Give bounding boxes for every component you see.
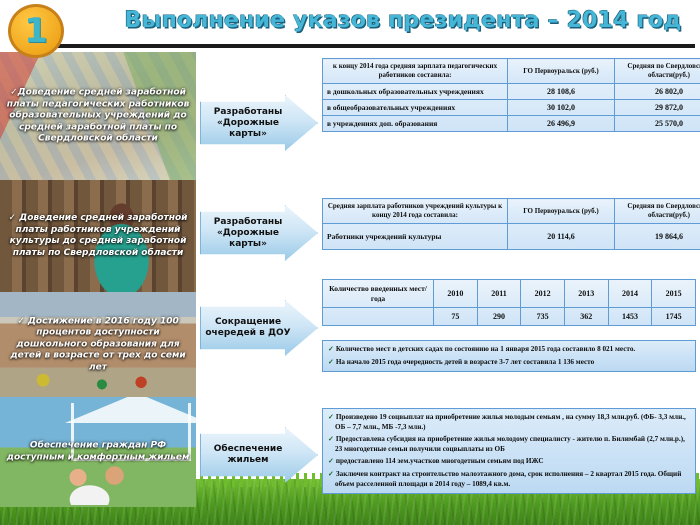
check-icon: ✓ xyxy=(328,435,334,443)
housing-note-0-text: Произведено 19 соцвыплат на приобретение… xyxy=(335,413,686,431)
arrow-queue-reduction-line2: очередей в ДОУ xyxy=(205,328,290,338)
places-lead-label: Количество введенных мест/года xyxy=(323,280,434,308)
culture-row0-city: 20 114,6 xyxy=(508,224,615,250)
arrow-roadmaps-culture-line1: Разработаны xyxy=(214,217,283,227)
education-header-region: Средняя по Свердловской области(руб.) xyxy=(615,59,700,84)
table-row: в учреждениях доп. образования 26 496,9 … xyxy=(323,116,700,132)
check-icon: ✓ xyxy=(328,413,334,421)
housing-note-1-text: Предоставлена субсидия на приобретение ж… xyxy=(335,435,685,453)
title-divider xyxy=(45,44,695,48)
places-year-2015: 2015 xyxy=(652,280,696,308)
culture-row0-label: Работники учреждений культуры xyxy=(323,224,508,250)
culture-header-city: ГО Первоуральск (руб.) xyxy=(508,199,615,224)
culture-salary-table: Средняя зарплата работников учреждений к… xyxy=(322,198,700,250)
table-header-row: Количество введенных мест/года 2010 2011… xyxy=(323,280,696,308)
education-row0-city: 28 108,6 xyxy=(508,84,615,100)
places-value-2011: 290 xyxy=(477,308,521,326)
family-shape xyxy=(55,459,151,505)
teachers-salary-photo: ✓Доведение средней заработной платы педа… xyxy=(0,52,196,180)
arrow-roadmaps-culture: Разработаны «Дорожные карты» xyxy=(200,205,318,261)
arrow-housing-provision-line1: Обеспечение xyxy=(214,444,283,454)
arrow-housing-provision-line2: жильем xyxy=(227,455,268,465)
education-row1-region: 29 872,0 xyxy=(615,100,700,116)
education-row0-region: 26 802,0 xyxy=(615,84,700,100)
preschool-note-0: ✓ Количество мест в детских садах по сос… xyxy=(328,345,690,355)
photo-column: ✓Доведение средней заработной платы педа… xyxy=(0,52,196,507)
table-row: 75 290 735 362 1453 1745 xyxy=(323,308,696,326)
education-row2-city: 26 496,9 xyxy=(508,116,615,132)
arrow-queue-reduction: Сокращение очередей в ДОУ xyxy=(200,300,318,356)
culture-row0-region: 19 864,6 xyxy=(615,224,700,250)
arrow-queue-reduction-line1: Сокращение xyxy=(215,317,281,327)
housing-caption: Обеспечение граждан РФ доступным и комфо… xyxy=(0,441,196,464)
education-row1-label: в общеобразовательных учреждениях xyxy=(323,100,508,116)
check-icon: ✓ xyxy=(328,358,334,366)
preschool-note-1: ✓ На начало 2015 года очередность детей … xyxy=(328,358,690,368)
places-value-2010: 75 xyxy=(434,308,478,326)
education-salary-panel: к концу 2014 года средняя зарплата педаг… xyxy=(322,58,700,132)
education-header-city: ГО Первоуральск (руб.) xyxy=(508,59,615,84)
housing-notes-box: ✓ Произведено 19 соцвыплат на приобретен… xyxy=(322,408,696,494)
page-title: Выполнение указов президента – 2014 год xyxy=(118,8,688,42)
housing-photo: Обеспечение граждан РФ доступным и комфо… xyxy=(0,397,196,507)
places-value-blank xyxy=(323,308,434,326)
places-year-2013: 2013 xyxy=(564,280,608,308)
places-per-year-table: Количество введенных мест/года 2010 2011… xyxy=(322,279,696,326)
places-year-2011: 2011 xyxy=(477,280,521,308)
places-value-2013: 362 xyxy=(564,308,608,326)
preschool-notes-box: ✓ Количество мест в детских садах по сос… xyxy=(322,340,696,372)
arrow-roadmaps-education-line1: Разработаны xyxy=(214,107,283,117)
housing-note-3: ✓ Заключен контракт на строительство мал… xyxy=(328,470,690,489)
check-icon: ✓ xyxy=(328,470,334,478)
table-row: Работники учреждений культуры 20 114,6 1… xyxy=(323,224,700,250)
places-year-2010: 2010 xyxy=(434,280,478,308)
slide-number-value: 1 xyxy=(24,14,48,48)
teachers-salary-caption: ✓Доведение средней заработной платы педа… xyxy=(0,87,196,145)
culture-salary-panel: Средняя зарплата работников учреждений к… xyxy=(322,198,700,250)
education-row2-label: в учреждениях доп. образования xyxy=(323,116,508,132)
places-year-2012: 2012 xyxy=(521,280,565,308)
education-row2-region: 25 570,0 xyxy=(615,116,700,132)
preschool-note-0-text: Количество мест в детских садах по состо… xyxy=(336,345,635,353)
preschool-note-1-text: На начало 2015 года очередность детей в … xyxy=(336,358,594,366)
slide: 1 Выполнение указов президента – 2014 го… xyxy=(0,0,700,525)
check-icon: ✓ xyxy=(328,345,334,353)
arrow-roadmaps-education: Разработаны «Дорожные карты» xyxy=(200,95,318,151)
culture-salary-photo: ✓ Доведение средней заработной платы раб… xyxy=(0,180,196,292)
housing-note-1: ✓ Предоставлена субсидия на приобретение… xyxy=(328,435,690,454)
places-value-2015: 1745 xyxy=(652,308,696,326)
arrow-roadmaps-culture-line2: «Дорожные карты» xyxy=(217,228,279,249)
education-salary-table: к концу 2014 года средняя зарплата педаг… xyxy=(322,58,700,132)
education-row1-city: 30 102,0 xyxy=(508,100,615,116)
housing-note-3-text: Заключен контракт на строительство малоэ… xyxy=(335,470,681,488)
slide-number-badge: 1 xyxy=(8,4,64,58)
housing-note-2-text: предоставлено 114 зем.участков многодетн… xyxy=(336,457,544,465)
check-icon: ✓ xyxy=(328,457,334,465)
housing-note-2: ✓ предоставлено 114 зем.участков многоде… xyxy=(328,457,690,467)
places-value-2014: 1453 xyxy=(608,308,652,326)
places-value-2012: 735 xyxy=(521,308,565,326)
preschool-access-photo: ✓ Достижение в 2016 году 100 процентов д… xyxy=(0,292,196,397)
places-per-year-panel: Количество введенных мест/года 2010 2011… xyxy=(322,279,696,326)
housing-note-0: ✓ Произведено 19 соцвыплат на приобретен… xyxy=(328,413,690,432)
culture-salary-caption: ✓ Доведение средней заработной платы раб… xyxy=(0,213,196,259)
education-header-lead: к концу 2014 года средняя зарплата педаг… xyxy=(323,59,508,84)
places-year-2014: 2014 xyxy=(608,280,652,308)
table-row: в общеобразовательных учреждениях 30 102… xyxy=(323,100,700,116)
table-header-row: к концу 2014 года средняя зарплата педаг… xyxy=(323,59,700,84)
culture-header-region: Средняя по Свердловской области(руб.) xyxy=(615,199,700,224)
arrow-roadmaps-education-line2: «Дорожные карты» xyxy=(217,118,279,139)
preschool-access-caption: ✓ Достижение в 2016 году 100 процентов д… xyxy=(0,316,196,374)
education-row0-label: в дошкольных образовательных учреждениях xyxy=(323,84,508,100)
table-row: в дошкольных образовательных учреждениях… xyxy=(323,84,700,100)
table-header-row: Средняя зарплата работников учреждений к… xyxy=(323,199,700,224)
culture-header-lead: Средняя зарплата работников учреждений к… xyxy=(323,199,508,224)
